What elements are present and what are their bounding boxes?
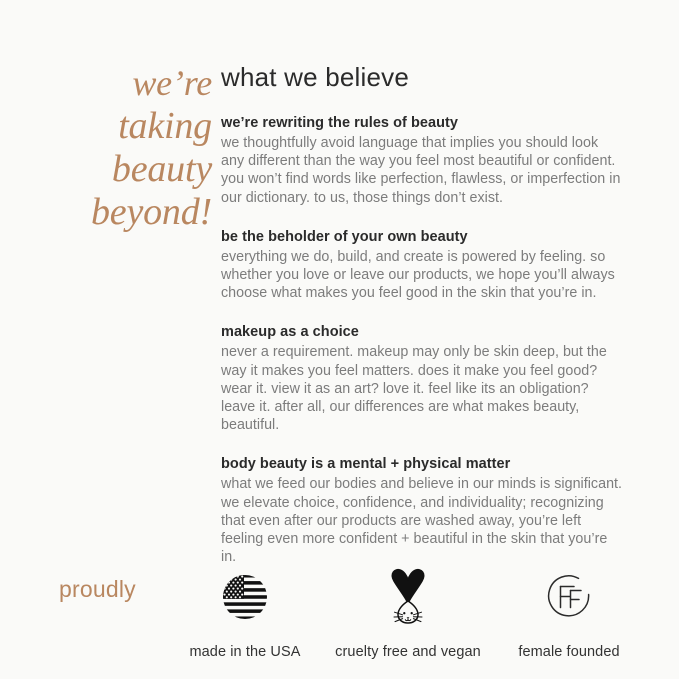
badge-label: female founded <box>479 644 659 660</box>
headline-line-4: beyond! <box>62 191 212 234</box>
beliefs-column: what we believe we’re rewriting the rule… <box>221 62 623 566</box>
certification-badges-strip: proudly <box>0 548 679 679</box>
badge-label: cruelty free and vegan <box>318 644 498 660</box>
belief-heading: makeup as a choice <box>221 323 623 342</box>
cruelty-free-bunny-heart-icon <box>318 566 498 628</box>
belief-item: be the beholder of your own beauty every… <box>221 228 623 303</box>
brand-headline: we’re taking beauty beyond! <box>62 62 212 234</box>
female-founder-collective-monogram-icon <box>479 566 659 628</box>
brand-manifesto-section: we’re taking beauty beyond! what we beli… <box>0 0 679 548</box>
headline-line-1: we’re <box>62 62 212 105</box>
usa-flag-circle-icon <box>155 566 335 628</box>
badge-made-in-usa: made in the USA <box>155 566 335 660</box>
badge-cruelty-free-vegan: cruelty free and vegan <box>318 566 498 660</box>
belief-item: makeup as a choice never a requirement. … <box>221 323 623 434</box>
headline-line-2: taking <box>62 105 212 148</box>
belief-body: never a requirement. makeup may only be … <box>221 343 623 434</box>
belief-heading: body beauty is a mental + physical matte… <box>221 455 623 474</box>
belief-item: we’re rewriting the rules of beauty we t… <box>221 114 623 207</box>
badge-label: made in the USA <box>155 644 335 660</box>
proudly-label: proudly <box>59 576 136 603</box>
belief-body: everything we do, build, and create is p… <box>221 248 623 303</box>
belief-heading: we’re rewriting the rules of beauty <box>221 114 623 133</box>
belief-body: we thoughtfully avoid language that impl… <box>221 134 623 207</box>
belief-heading: be the beholder of your own beauty <box>221 228 623 247</box>
page-title: what we believe <box>221 62 623 92</box>
badge-female-founded: female founded <box>479 566 659 660</box>
headline-line-3: beauty <box>62 148 212 191</box>
about-page: we’re taking beauty beyond! what we beli… <box>0 0 679 679</box>
